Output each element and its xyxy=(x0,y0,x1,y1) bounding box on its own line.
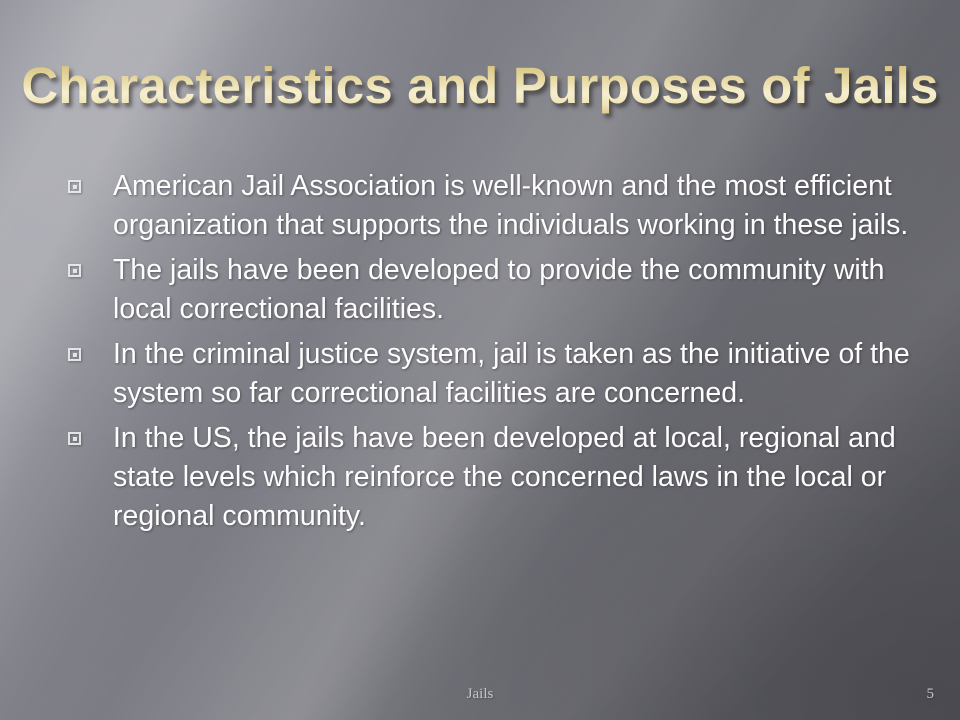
nested-square-bullet-icon xyxy=(68,180,81,193)
list-item-text: The jails have been developed to provide… xyxy=(113,251,924,329)
slide-title: Characteristics and Purposes of Jails xyxy=(21,57,938,115)
list-item-text: In the criminal justice system, jail is … xyxy=(113,335,924,413)
list-item-text: In the US, the jails have been developed… xyxy=(113,419,924,536)
list-item: American Jail Association is well-known … xyxy=(68,167,924,245)
nested-square-bullet-icon xyxy=(68,348,81,361)
slide-footer-text: Jails xyxy=(0,686,960,703)
list-item: The jails have been developed to provide… xyxy=(68,251,924,329)
bullet-list: American Jail Association is well-known … xyxy=(68,167,924,542)
presentation-slide: Characteristics and Purposes of Jails Am… xyxy=(0,0,960,720)
slide-number: 5 xyxy=(927,686,935,703)
list-item-text: American Jail Association is well-known … xyxy=(113,167,924,245)
nested-square-bullet-icon xyxy=(68,432,81,445)
slide-title-container: Characteristics and Purposes of Jails xyxy=(0,57,960,115)
list-item: In the criminal justice system, jail is … xyxy=(68,335,924,413)
nested-square-bullet-icon xyxy=(68,264,81,277)
list-item: In the US, the jails have been developed… xyxy=(68,419,924,536)
